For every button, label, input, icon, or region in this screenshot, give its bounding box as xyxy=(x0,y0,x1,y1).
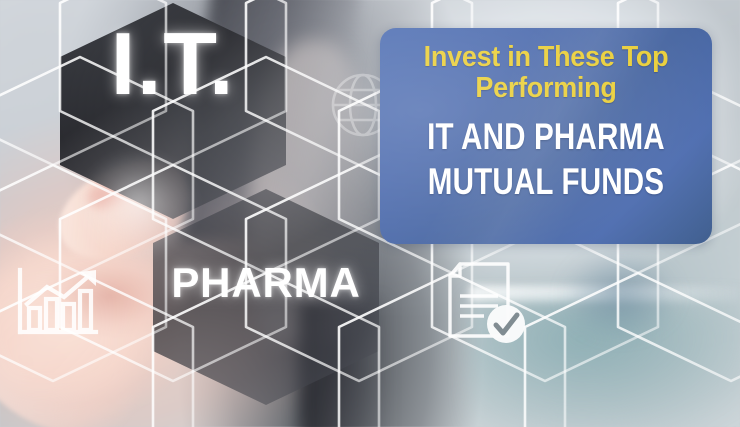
kicker-line-2: Performing xyxy=(475,72,616,104)
banner-image: I.T. PHARMA xyxy=(0,0,740,427)
headline-line-2: MUTUAL FUNDS xyxy=(424,160,667,204)
callout-kicker: Invest in These Top Performing xyxy=(405,42,688,103)
callout-panel: Invest in These Top Performing IT AND PH… xyxy=(380,28,712,244)
headline-line-1: IT AND PHARMA xyxy=(424,115,667,159)
kicker-line-1: Invest in These Top xyxy=(424,41,669,73)
bar-chart-growth-icon xyxy=(16,266,100,340)
touch-glow xyxy=(78,150,198,260)
hex-label-it: I.T. xyxy=(60,20,286,108)
document-check-icon xyxy=(438,256,532,352)
callout-headline: IT AND PHARMA MUTUAL FUNDS xyxy=(424,115,667,204)
hex-label-pharma: PHARMA xyxy=(153,262,379,304)
